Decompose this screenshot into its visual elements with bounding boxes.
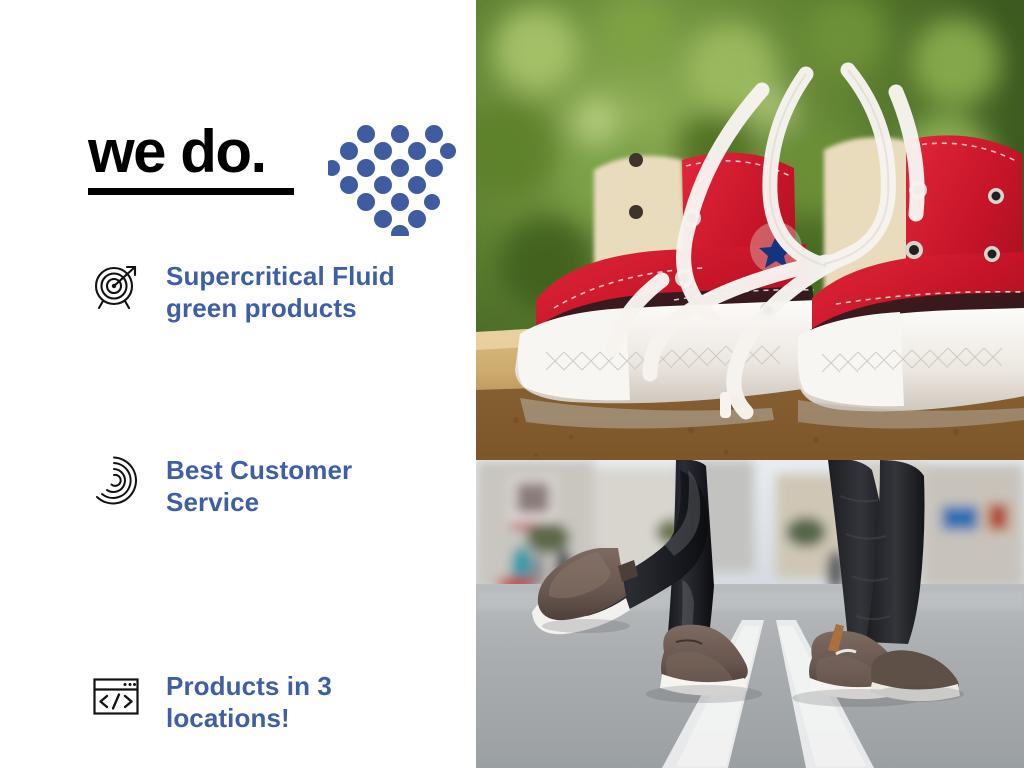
code-browser-window-icon [88, 668, 144, 724]
feature-label-supercritical-fluid: Supercritical Fluid green products [166, 258, 395, 324]
feature-line-1: Best Customer [166, 455, 352, 485]
red-high-top-sneakers-photo [476, 0, 1024, 460]
feature-label-best-customer-service: Best Customer Service [166, 452, 352, 518]
photo-column [476, 0, 1024, 768]
page-title: we do. [88, 122, 294, 182]
feature-item-best-customer-service: Best Customer Service [88, 452, 468, 518]
arrow-dot-pattern-logo [328, 108, 458, 236]
feature-line-1: Supercritical Fluid [166, 261, 395, 291]
feature-line-2: green products [166, 293, 357, 323]
brand-block: we do. [88, 104, 458, 234]
feature-line-1: Products in 3 [166, 671, 332, 701]
presentation-slide: we do. [0, 0, 1024, 768]
couple-legs-crosswalk-photo [476, 460, 1024, 768]
feature-line-2: Service [166, 487, 259, 517]
feature-line-2: locations! [166, 703, 290, 733]
feature-label-products-in-3-locations: Products in 3 locations! [166, 668, 332, 734]
target-arrow-icon [88, 258, 144, 314]
feature-item-supercritical-fluid: Supercritical Fluid green products [88, 258, 468, 324]
headline-underline [88, 188, 294, 195]
headline-group: we do. [88, 122, 294, 195]
sound-wave-spiral-icon [88, 452, 144, 508]
feature-item-products-in-3-locations: Products in 3 locations! [88, 668, 468, 734]
left-content-panel: we do. [0, 0, 476, 768]
